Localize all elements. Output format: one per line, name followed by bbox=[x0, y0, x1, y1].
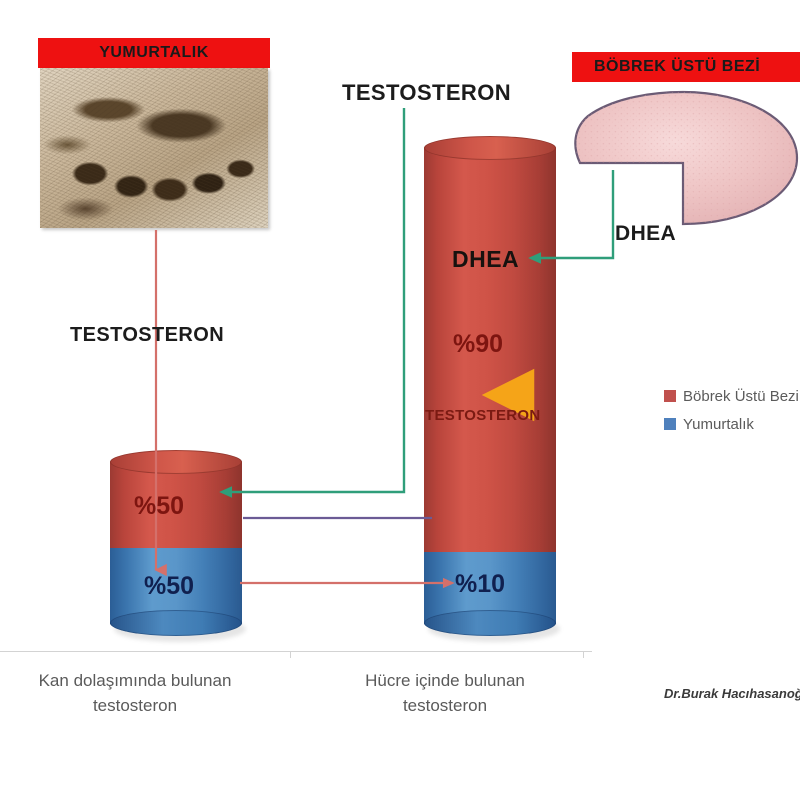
adrenal-title-banner: BÖBREK ÜSTÜ BEZİ bbox=[572, 52, 800, 82]
axis-tick-mid bbox=[290, 651, 291, 658]
category-axis-line bbox=[0, 651, 592, 652]
dhea-label-in-bar: DHEA bbox=[452, 246, 519, 273]
dhea-label-right: DHEA bbox=[615, 222, 676, 246]
testosteron-label-top: TESTOSTERON bbox=[342, 80, 511, 106]
testosteron-label-left: TESTOSTERON bbox=[70, 324, 224, 347]
data-label-blood-adrenal: %50 bbox=[134, 492, 184, 521]
adrenal-gland-shape bbox=[566, 88, 800, 228]
data-label-intracellular-adrenal: %90 bbox=[453, 330, 503, 359]
legend-item-adrenal[interactable]: Böbrek Üstü Bezi bbox=[664, 382, 799, 410]
bar-intracellular bbox=[424, 138, 556, 634]
chart-legend: Böbrek Üstü Bezi Yumurtalık bbox=[664, 382, 799, 438]
axis-tick-right bbox=[583, 651, 584, 658]
bar-top-cap bbox=[424, 136, 556, 160]
bar-bottom-cap bbox=[424, 610, 556, 636]
category-label-blood-line2: testosteron bbox=[0, 693, 290, 718]
category-label-intracellular: Hücre içinde bulunan testosteron bbox=[300, 668, 590, 718]
ovary-image-texture bbox=[40, 68, 268, 228]
bar-bottom-cap bbox=[110, 610, 242, 636]
ovary-title-banner: YUMURTALIK bbox=[38, 38, 270, 68]
testosteron-label-in-bar: TESTOSTERON bbox=[425, 407, 541, 424]
category-label-intracellular-line1: Hücre içinde bulunan bbox=[300, 668, 590, 693]
legend-item-ovary[interactable]: Yumurtalık bbox=[664, 410, 799, 438]
bar-top-cap bbox=[110, 450, 242, 474]
author-signature: Dr.Burak Hacıhasanoğlu bbox=[664, 686, 800, 701]
data-label-blood-ovary: %50 bbox=[144, 572, 194, 601]
bar-blood-circulation bbox=[110, 452, 242, 634]
legend-swatch-adrenal bbox=[664, 390, 676, 402]
ovary-histology-image bbox=[40, 68, 268, 228]
legend-label-adrenal: Böbrek Üstü Bezi bbox=[683, 388, 799, 405]
legend-swatch-ovary bbox=[664, 418, 676, 430]
category-label-intracellular-line2: testosteron bbox=[300, 693, 590, 718]
legend-label-ovary: Yumurtalık bbox=[683, 416, 754, 433]
bar-body bbox=[424, 138, 556, 634]
category-label-blood-line1: Kan dolaşımında bulunan bbox=[0, 668, 290, 693]
diagram-canvas: YUMURTALIK BÖBREK ÜSTÜ BEZİ bbox=[0, 0, 800, 800]
data-label-intracellular-ovary: %10 bbox=[455, 570, 505, 599]
bar-body bbox=[110, 452, 242, 634]
category-label-blood: Kan dolaşımında bulunan testosteron bbox=[0, 668, 290, 718]
